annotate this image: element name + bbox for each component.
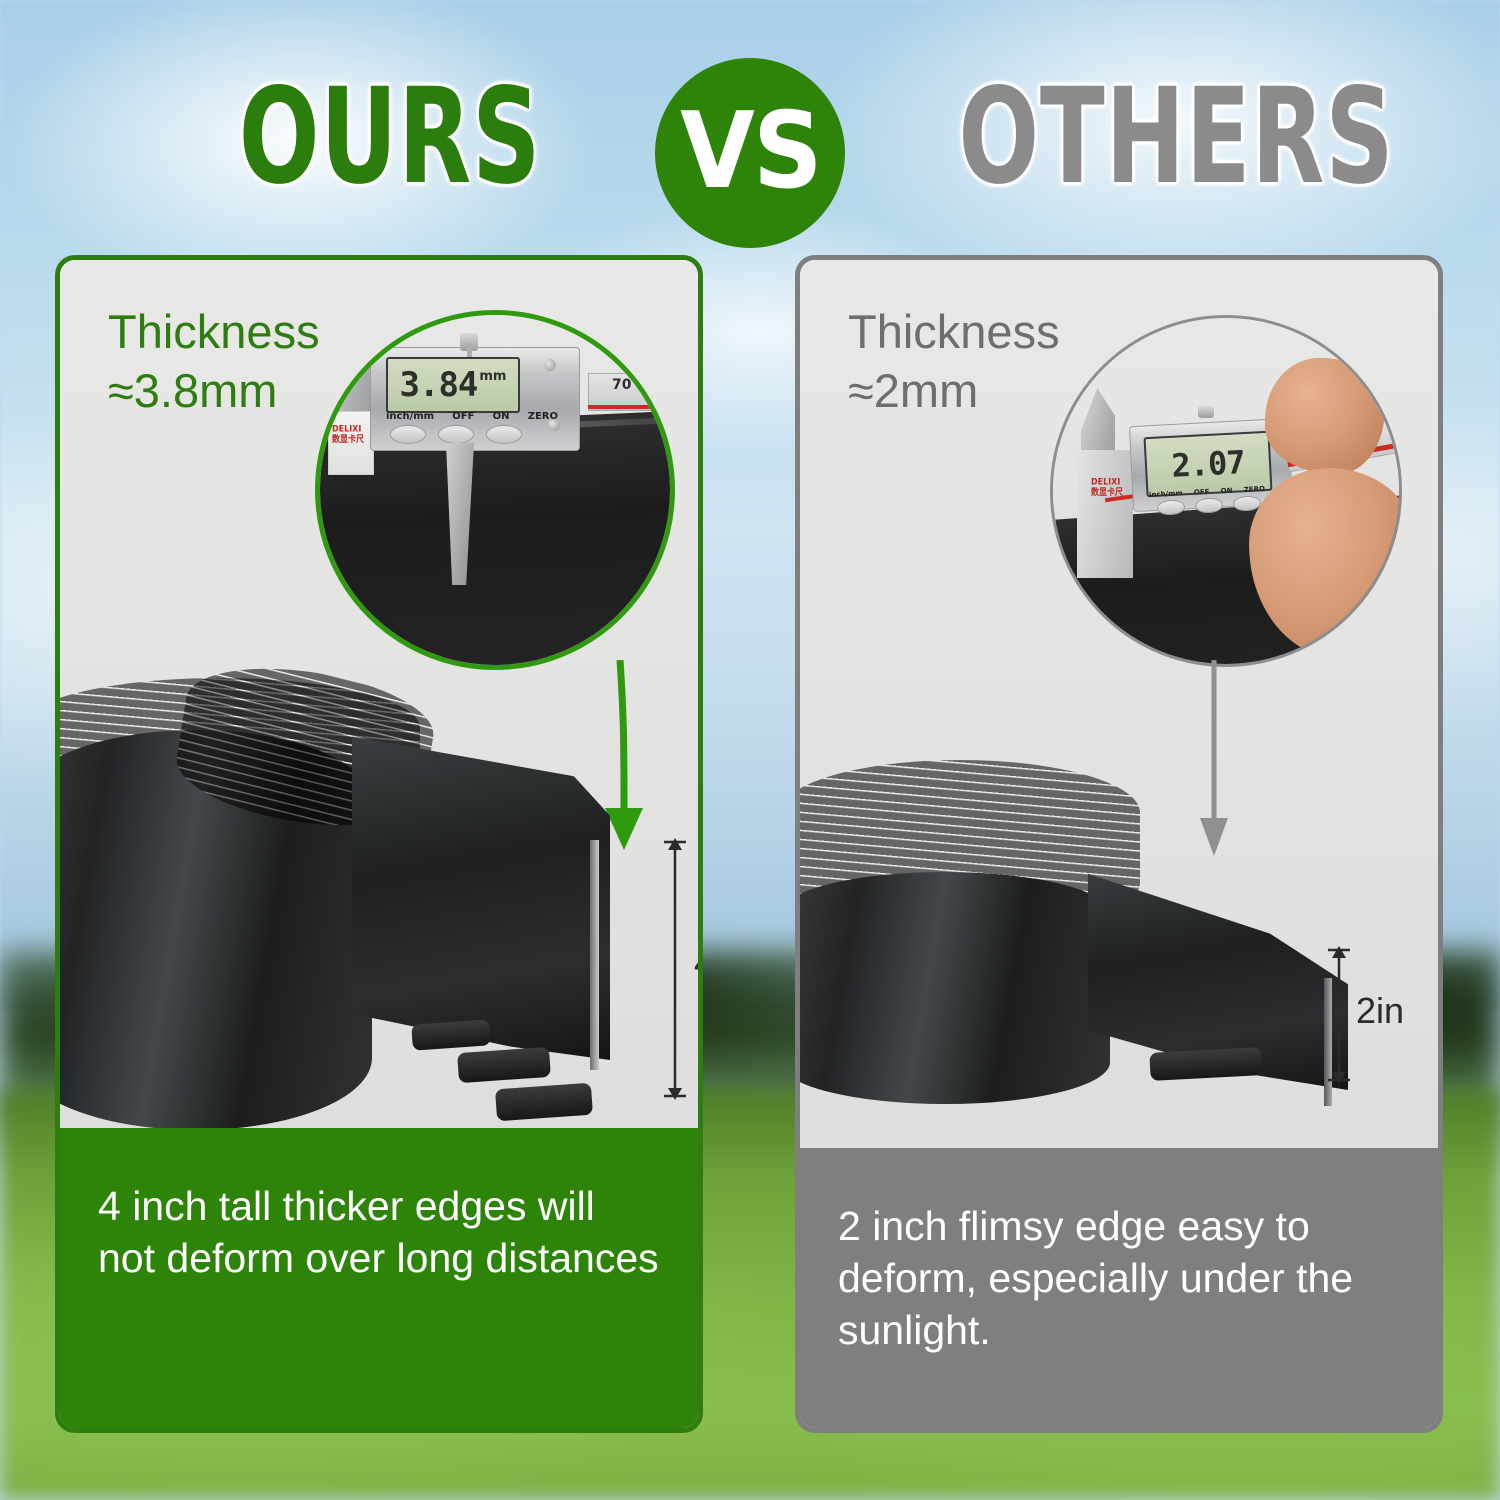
ground-stake-1 [411,1019,491,1050]
ours-photo-area: Thickness ≈3.8mm DELIXI数显卡尺 3.84 [60,260,698,1128]
header: OURS VS OTHERS [0,62,1500,252]
coil-tail-strip [352,730,610,1060]
coil-tail-edge-highlight [590,840,599,1070]
others-dimension-label: 2in [1356,990,1404,1032]
ours-caption-text: 4 inch tall thicker edges will not defor… [98,1183,659,1281]
comparison-infographic: OURS VS OTHERS Thickness ≈3.8mm DELIXI数显… [0,0,1500,1500]
ours-card: Thickness ≈3.8mm DELIXI数显卡尺 3.84 [55,255,703,1433]
header-others-title: OTHERS [958,62,1361,212]
ground-stake-1 [1149,1047,1262,1081]
vs-badge: VS [655,58,845,248]
others-card: Thickness ≈2mm DELIXI数显卡尺 2.07 inch/mm O… [795,255,1443,1433]
vs-badge-label: VS [680,99,821,204]
ours-dimension-line [660,838,690,1100]
others-dimension-line [1324,946,1354,1084]
ours-dimension-label: 4in [694,942,698,984]
others-caption-block: 2 inch flimsy edge easy to deform, espec… [800,1148,1438,1428]
others-photo-area: Thickness ≈2mm DELIXI数显卡尺 2.07 inch/mm O… [800,260,1438,1148]
ours-product-photo [60,260,698,1128]
ground-stake-3 [495,1083,593,1122]
coil-roll-body [800,872,1110,1104]
others-caption-text: 2 inch flimsy edge easy to deform, espec… [838,1203,1353,1353]
header-ours-title: OURS [217,62,563,212]
ground-stake-2 [457,1047,551,1083]
ours-caption-block: 4 inch tall thicker edges will not defor… [60,1128,698,1428]
